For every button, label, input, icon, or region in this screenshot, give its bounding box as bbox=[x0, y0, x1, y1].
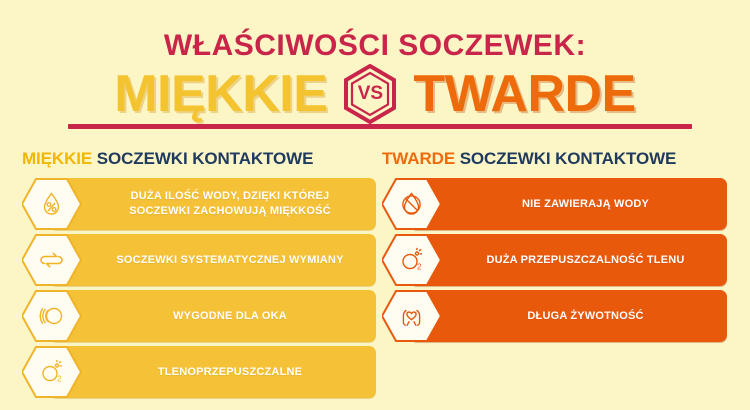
exchange-arrows-icon bbox=[22, 234, 84, 286]
hands-heart-icon bbox=[382, 290, 444, 342]
soft-lens-feature-list: DUŻA ILOŚĆ WODY, DZIĘKI KTÓREJSOCZEWKI Z… bbox=[22, 178, 376, 398]
right-heading-rest: SOCZEWKI KONTAKTOWE bbox=[460, 149, 677, 168]
comfort-eye-lens-icon bbox=[22, 290, 84, 342]
feature-label: DUŻA ILOŚĆ WODY, DZIĘKI KTÓREJSOCZEWKI Z… bbox=[129, 189, 331, 219]
feature-bar: DUŻA ILOŚĆ WODY, DZIĘKI KTÓREJSOCZEWKI Z… bbox=[50, 178, 376, 230]
left-heading-accent: MIĘKKIE bbox=[22, 149, 92, 168]
hands-heart-icon bbox=[382, 290, 444, 342]
svg-text:2: 2 bbox=[57, 375, 62, 384]
no-water-drop-icon bbox=[382, 178, 444, 230]
feature-row[interactable]: SOCZEWKI SYSTEMATYCZNEJ WYMIANY bbox=[22, 234, 376, 286]
vs-badge: VS bbox=[343, 64, 397, 124]
feature-label: SOCZEWKI SYSTEMATYCZNEJ WYMIANY bbox=[116, 253, 343, 268]
page-title: WŁAŚCIWOŚCI SOCZEWEK: bbox=[0, 31, 750, 61]
versus-row: MIĘKKIE VS TWARDE bbox=[0, 64, 750, 124]
infographic-canvas: WŁAŚCIWOŚCI SOCZEWEK: MIĘKKIE VS TWARDE … bbox=[0, 0, 750, 410]
oxygen-molecule-icon: 2 bbox=[382, 234, 444, 286]
feature-bar: WYGODNE DLA OKA bbox=[50, 290, 376, 342]
water-drop-percent-icon bbox=[22, 178, 84, 230]
feature-row[interactable]: DŁUGA ŻYWOTNOŚĆ bbox=[382, 290, 727, 342]
right-column-heading: TWARDE SOCZEWKI KONTAKTOWE bbox=[382, 149, 676, 169]
feature-label: DUŻA PRZEPUSZCZALNOŚĆ TLENU bbox=[486, 253, 684, 268]
oxygen-molecule-icon: 2 bbox=[22, 346, 84, 398]
vs-label: VS bbox=[358, 83, 383, 105]
svg-text:2: 2 bbox=[417, 263, 422, 272]
feature-row[interactable]: DUŻA PRZEPUSZCZALNOŚĆ TLENU 2 bbox=[382, 234, 727, 286]
feature-row[interactable]: WYGODNE DLA OKA bbox=[22, 290, 376, 342]
soft-lens-word: MIĘKKIE bbox=[114, 68, 327, 120]
exchange-arrows-icon bbox=[22, 234, 84, 286]
feature-bar: DŁUGA ŻYWOTNOŚĆ bbox=[410, 290, 727, 342]
left-column-heading: MIĘKKIE SOCZEWKI KONTAKTOWE bbox=[22, 149, 313, 169]
header-divider-rule bbox=[68, 124, 692, 129]
feature-label: NIE ZAWIERAJĄ WODY bbox=[522, 197, 649, 212]
feature-bar: TLENOPRZEPUSZCZALNE bbox=[50, 346, 376, 398]
feature-row[interactable]: TLENOPRZEPUSZCZALNE 2 bbox=[22, 346, 376, 398]
hard-lens-feature-list: NIE ZAWIERAJĄ WODY DUŻA PRZEPUSZCZALNOŚĆ… bbox=[382, 178, 727, 342]
water-drop-percent-icon bbox=[22, 178, 84, 230]
left-heading-rest: SOCZEWKI KONTAKTOWE bbox=[97, 149, 314, 168]
feature-row[interactable]: NIE ZAWIERAJĄ WODY bbox=[382, 178, 727, 230]
feature-label: DŁUGA ŻYWOTNOŚĆ bbox=[527, 309, 643, 324]
right-heading-accent: TWARDE bbox=[382, 149, 455, 168]
comfort-eye-lens-icon bbox=[22, 290, 84, 342]
feature-bar: SOCZEWKI SYSTEMATYCZNEJ WYMIANY bbox=[50, 234, 376, 286]
no-water-drop-icon bbox=[382, 178, 444, 230]
feature-bar: NIE ZAWIERAJĄ WODY bbox=[410, 178, 727, 230]
hard-lens-word: TWARDE bbox=[413, 68, 635, 120]
oxygen-molecule-icon: 2 bbox=[22, 346, 84, 398]
feature-label: TLENOPRZEPUSZCZALNE bbox=[158, 365, 302, 380]
oxygen-molecule-icon: 2 bbox=[382, 234, 444, 286]
feature-label: WYGODNE DLA OKA bbox=[173, 309, 287, 324]
feature-bar: DUŻA PRZEPUSZCZALNOŚĆ TLENU bbox=[410, 234, 727, 286]
feature-row[interactable]: DUŻA ILOŚĆ WODY, DZIĘKI KTÓREJSOCZEWKI Z… bbox=[22, 178, 376, 230]
